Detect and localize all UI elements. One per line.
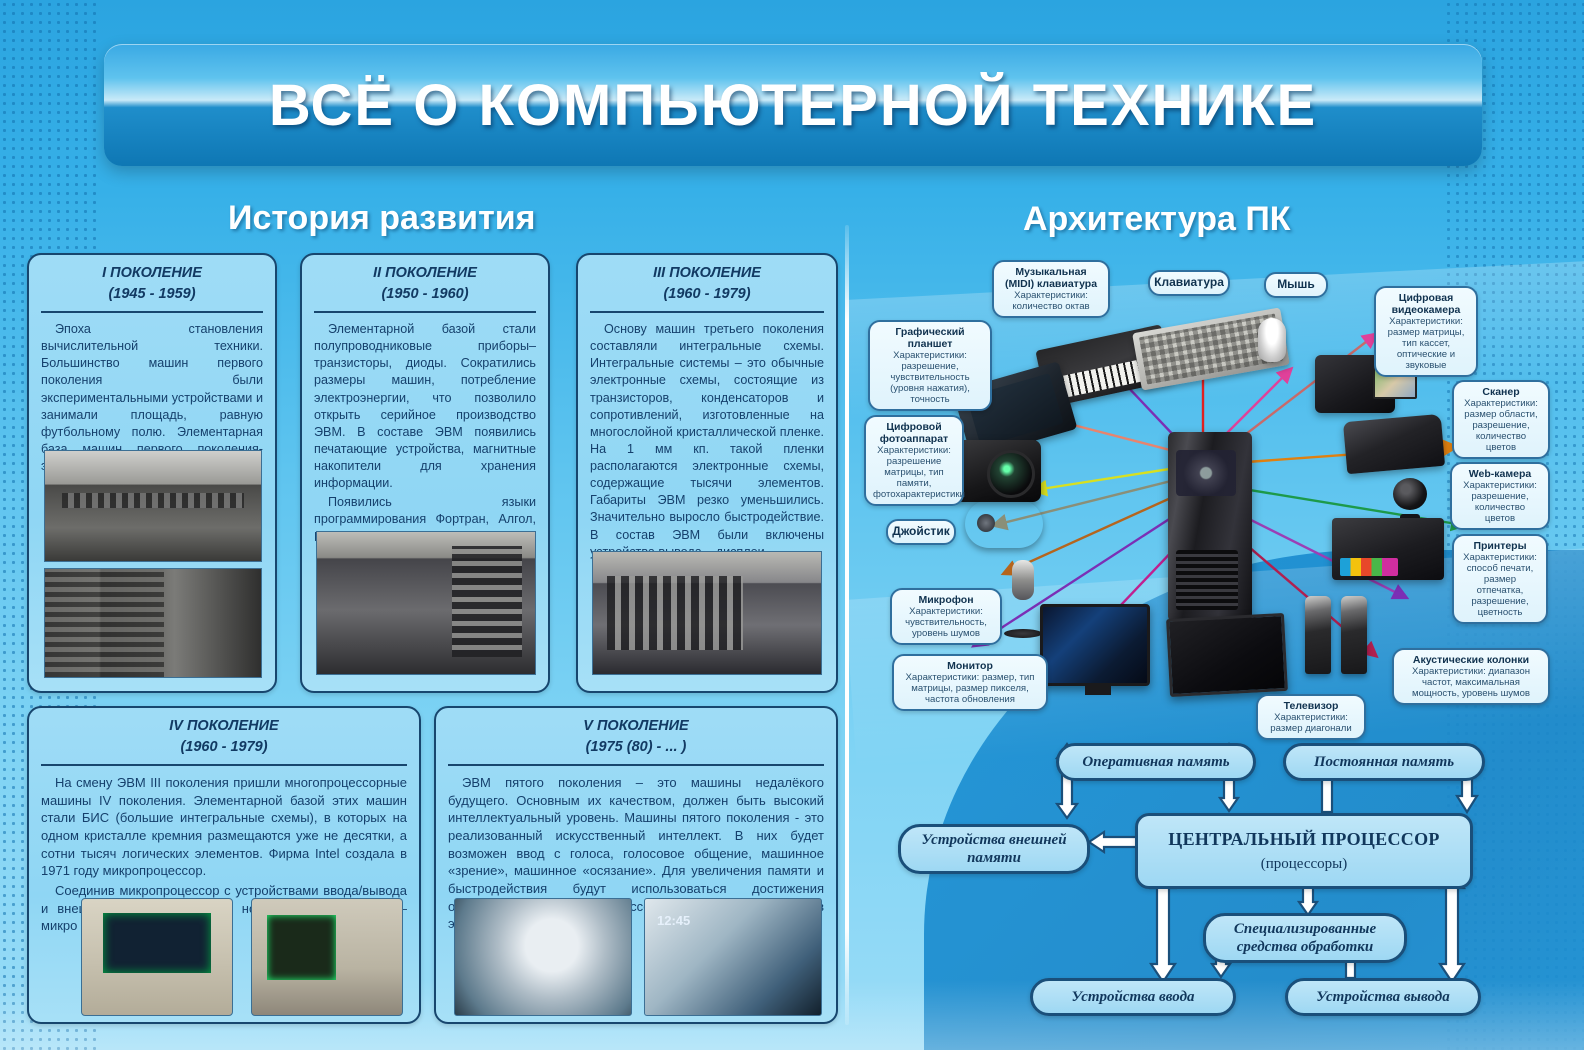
generation-1-years: (1945 - 1959) [108,286,195,302]
architecture-section-heading: Архитектура ПК [1023,200,1291,239]
divider-rule [41,764,407,766]
generation-4-title: IV ПОКОЛЕНИЕ (1960 - 1979) [41,716,407,764]
callout-title: Акустические колонки [1401,654,1541,666]
generation-3-name: III ПОКОЛЕНИЕ [653,265,761,281]
generation-4-name: IV ПОКОЛЕНИЕ [169,718,278,734]
callout-microphone: Микрофон Характеристики: чувствительност… [890,588,1002,645]
block-output-devices: Устройства вывода [1285,978,1481,1016]
callout-title: Сканер [1461,386,1541,398]
block-external-memory: Устройства внешней памяти [898,824,1090,874]
block-label: Устройства ввода [1071,988,1194,1006]
generation-card-5: V ПОКОЛЕНИЕ (1975 (80) - ... ) ЭВМ пятог… [434,706,838,1024]
photo-first-generation-machine-room [44,450,262,562]
callout-digital-camera: Цифровой фотоаппарат Характеристики: раз… [864,415,964,506]
generation-card-2: II ПОКОЛЕНИЕ (1950 - 1960) Элементарной … [300,253,550,693]
generation-2-title: II ПОКОЛЕНИЕ (1950 - 1960) [314,263,536,311]
callout-title: Телевизор [1265,700,1357,712]
block-label: Устройства внешней памяти [901,831,1087,867]
callout-video-camera: Цифровая видеокамера Характеристики: раз… [1374,286,1478,377]
block-specialized-processing: Специализированные средства обработки [1203,913,1407,963]
divider-rule [41,311,263,313]
poster-title: ВСЁ О КОМПЬЮТЕРНОЙ ТЕХНИКЕ [104,44,1482,166]
photo-second-generation-computer [316,531,536,675]
callout-title: Графический планшет [877,326,983,350]
block-central-processor: ЦЕНТРАЛЬНЫЙ ПРОЦЕССОР (процессоры) [1135,813,1473,889]
callout-joystick: Джойстик [886,519,956,545]
callout-spec: Характеристики: разрешение, количество ц… [1459,480,1541,524]
title-banner: ВСЁ О КОМПЬЮТЕРНОЙ ТЕХНИКЕ [104,44,1482,166]
block-input-devices: Устройства ввода [1030,978,1236,1016]
callout-spec: Характеристики: диапазон частот, максима… [1401,666,1541,699]
generation-5-title: V ПОКОЛЕНИЕ (1975 (80) - ... ) [448,716,824,764]
callout-spec: Характеристики: размер области, разрешен… [1461,398,1541,453]
generation-2-years: (1950 - 1960) [381,286,468,302]
generation-3-title: III ПОКОЛЕНИЕ (1960 - 1979) [590,263,824,311]
callout-speakers: Акустические колонки Характеристики: диа… [1392,648,1550,705]
generation-5-name: V ПОКОЛЕНИЕ [583,718,688,734]
paragraph: Элементарной базой стали полупроводников… [314,321,536,492]
television-photo [1166,613,1288,697]
photo-ibm-personal-computer [251,898,403,1016]
block-label: Постоянная память [1314,753,1454,771]
generation-4-years: (1960 - 1979) [180,739,267,755]
divider-rule [590,311,824,313]
callout-title: Цифровой фотоаппарат [873,421,955,445]
callout-printers: Принтеры Характеристики: способ печати, … [1452,534,1548,624]
generation-3-years: (1960 - 1979) [663,286,750,302]
callout-midi-keyboard: Музыкальная (MIDI) клавиатура Характерис… [992,260,1110,318]
history-section-heading: История развития [228,199,535,238]
vertical-divider [845,225,849,1025]
block-ram: Оперативная память [1056,743,1256,781]
monitor-photo [1040,604,1150,686]
callout-title: Музыкальная (MIDI) клавиатура [1001,266,1101,290]
callout-keyboard: Клавиатура [1148,270,1230,296]
callout-spec: Характеристики: размер, тип матрицы, раз… [901,672,1039,705]
photo-third-generation-computer [592,551,822,675]
block-rom: Постоянная память [1283,743,1485,781]
digital-camera-photo [955,440,1041,502]
paragraph: На смену ЭВМ III поколения пришли многоп… [41,774,407,880]
block-label-sub: (процессоры) [1168,855,1439,873]
callout-mouse: Мышь [1264,272,1328,298]
photo-personal-computer-beige [81,898,233,1016]
generation-1-title: I ПОКОЛЕНИЕ (1945 - 1959) [41,263,263,311]
photo-touchscreen-tablet [644,898,822,1016]
generation-card-3: III ПОКОЛЕНИЕ (1960 - 1979) Основу машин… [576,253,838,693]
speakers-photo [1305,596,1367,674]
callout-title: Клавиатура [1154,276,1224,290]
block-label-main: ЦЕНТРАЛЬНЫЙ ПРОЦЕССОР [1168,829,1439,851]
callout-monitor: Монитор Характеристики: размер, тип матр… [892,654,1048,711]
paragraph: Основу машин третьего поколения составля… [590,321,824,561]
generation-5-years: (1975 (80) - ... ) [586,739,687,755]
divider-rule [314,311,536,313]
callout-title: Цифровая видеокамера [1383,292,1469,316]
printer-photo [1332,518,1444,580]
callout-title: Web-камера [1459,468,1541,480]
callout-spec: Характеристики: разрешение, чувствительн… [877,350,983,405]
callout-title: Монитор [901,660,1039,672]
generation-card-1: I ПОКОЛЕНИЕ (1945 - 1959) Эпоха становле… [27,253,277,693]
callout-title: Мышь [1277,278,1315,292]
block-label: Устройства вывода [1316,988,1449,1006]
scanner-photo [1343,414,1445,474]
callout-spec: Характеристики: разрешение матрицы, тип … [873,445,955,500]
generation-2-name: II ПОКОЛЕНИЕ [373,265,477,281]
system-unit-photo [1168,432,1252,622]
callout-spec: Характеристики: чувствительность, уровен… [899,606,993,639]
generation-3-text: Основу машин третьего поколения составля… [590,321,824,561]
callout-television: Телевизор Характеристики: размер диагона… [1256,694,1366,740]
joystick-photo [965,500,1043,548]
callout-spec: Характеристики: размер диагонали [1265,712,1357,734]
callout-graphics-tablet: Графический планшет Характеристики: разр… [868,320,992,411]
callout-title: Микрофон [899,594,993,606]
photo-first-generation-operator [44,568,262,678]
generation-1-name: I ПОКОЛЕНИЕ [102,265,202,281]
callout-webcam: Web-камера Характеристики: разрешение, к… [1450,462,1550,530]
callout-spec: Характеристики: способ печати, размер от… [1461,552,1539,618]
generation-card-4: IV ПОКОЛЕНИЕ (1960 - 1979) На смену ЭВМ … [27,706,421,1024]
callout-title: Джойстик [892,525,949,539]
callout-spec: Характеристики: количество октав [1001,290,1101,312]
generation-2-text: Элементарной базой стали полупроводников… [314,321,536,546]
photo-humanoid-robot [454,898,632,1016]
block-label: Оперативная память [1082,753,1229,771]
block-label: Специализированные средства обработки [1206,920,1404,956]
poster-canvas: ВСЁ О КОМПЬЮТЕРНОЙ ТЕХНИКЕ История разви… [0,0,1584,1050]
divider-rule [448,764,824,766]
callout-title: Принтеры [1461,540,1539,552]
callout-scanner: Сканер Характеристики: размер области, р… [1452,380,1550,459]
callout-spec: Характеристики: размер матрицы, тип касс… [1383,316,1469,371]
mouse-photo [1258,318,1286,362]
